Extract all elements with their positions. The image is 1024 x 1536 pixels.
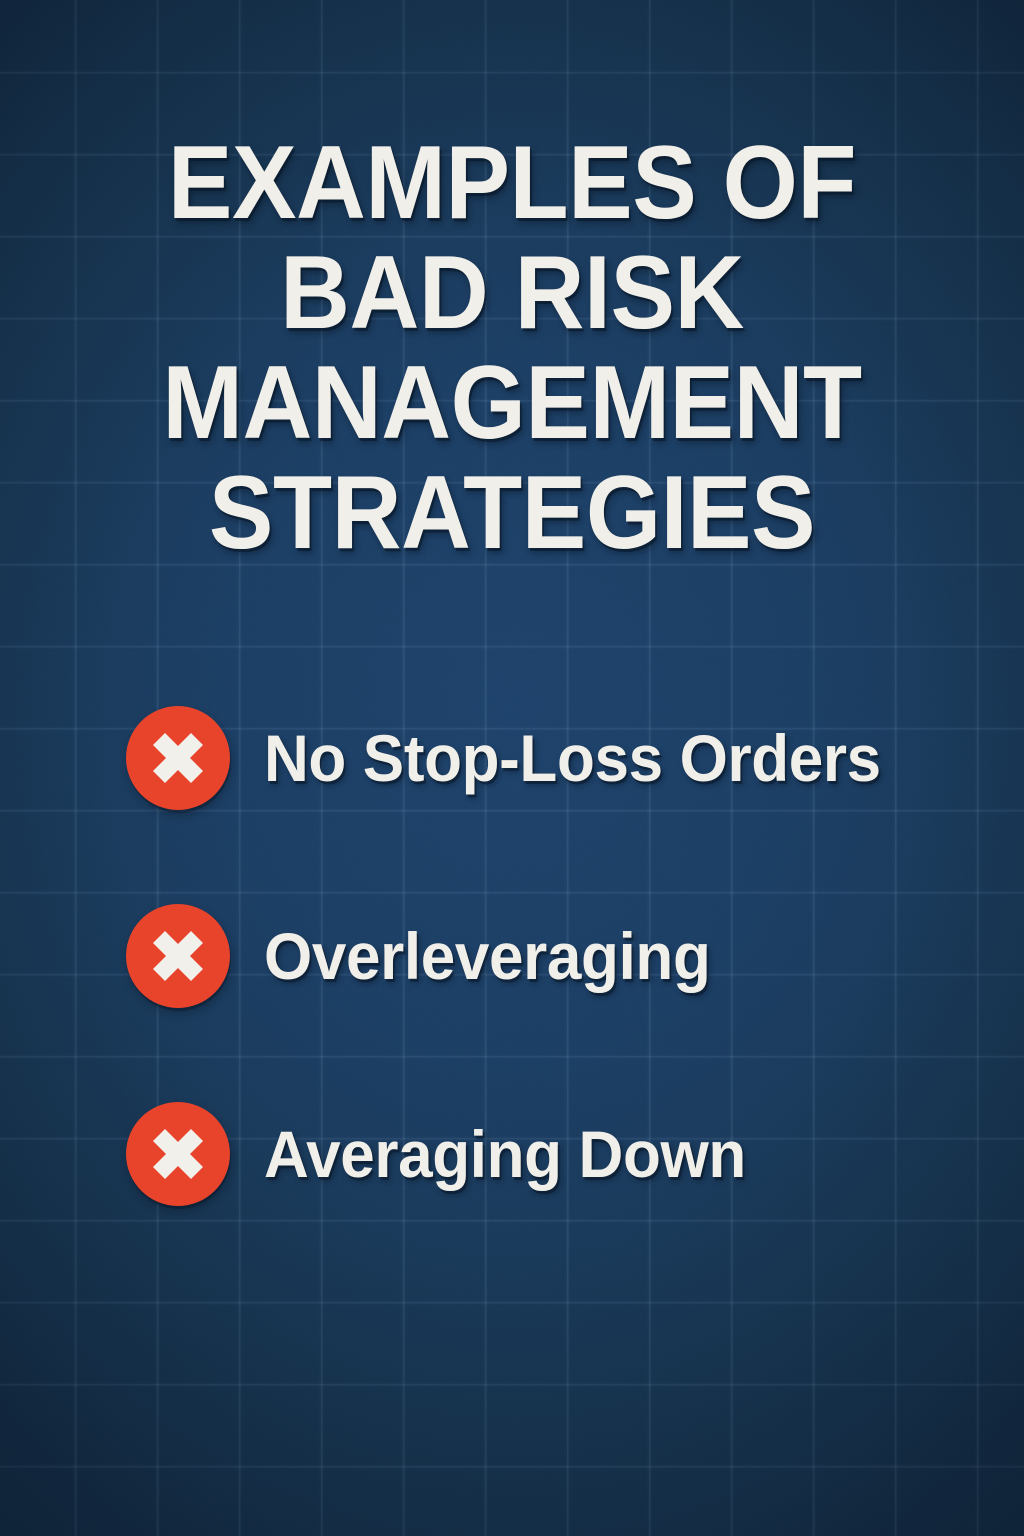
poster-canvas: EXAMPLES OF BAD RISK MANAGEMENT STRATEGI… [0, 0, 1024, 1536]
list-item: Overleveraging [0, 888, 1024, 1024]
poster-content: EXAMPLES OF BAD RISK MANAGEMENT STRATEGI… [0, 0, 1024, 1536]
headline-line-3: MANAGEMENT [77, 348, 947, 458]
list-item-label: Overleveraging [264, 919, 710, 993]
list-item: No Stop-Loss Orders [0, 690, 1024, 826]
x-circle-icon [126, 706, 230, 810]
headline-line-1: EXAMPLES OF [77, 128, 947, 238]
list-item-label: Averaging Down [264, 1117, 746, 1191]
list-item-label: No Stop-Loss Orders [264, 721, 881, 795]
page-title: EXAMPLES OF BAD RISK MANAGEMENT STRATEGI… [0, 128, 1024, 568]
x-circle-icon [126, 1102, 230, 1206]
x-circle-icon [126, 904, 230, 1008]
headline-line-4: STRATEGIES [77, 458, 947, 568]
list-item: Averaging Down [0, 1086, 1024, 1222]
bad-strategies-list: No Stop-Loss Orders Overleveraging [0, 690, 1024, 1222]
headline-line-2: BAD RISK [77, 238, 947, 348]
